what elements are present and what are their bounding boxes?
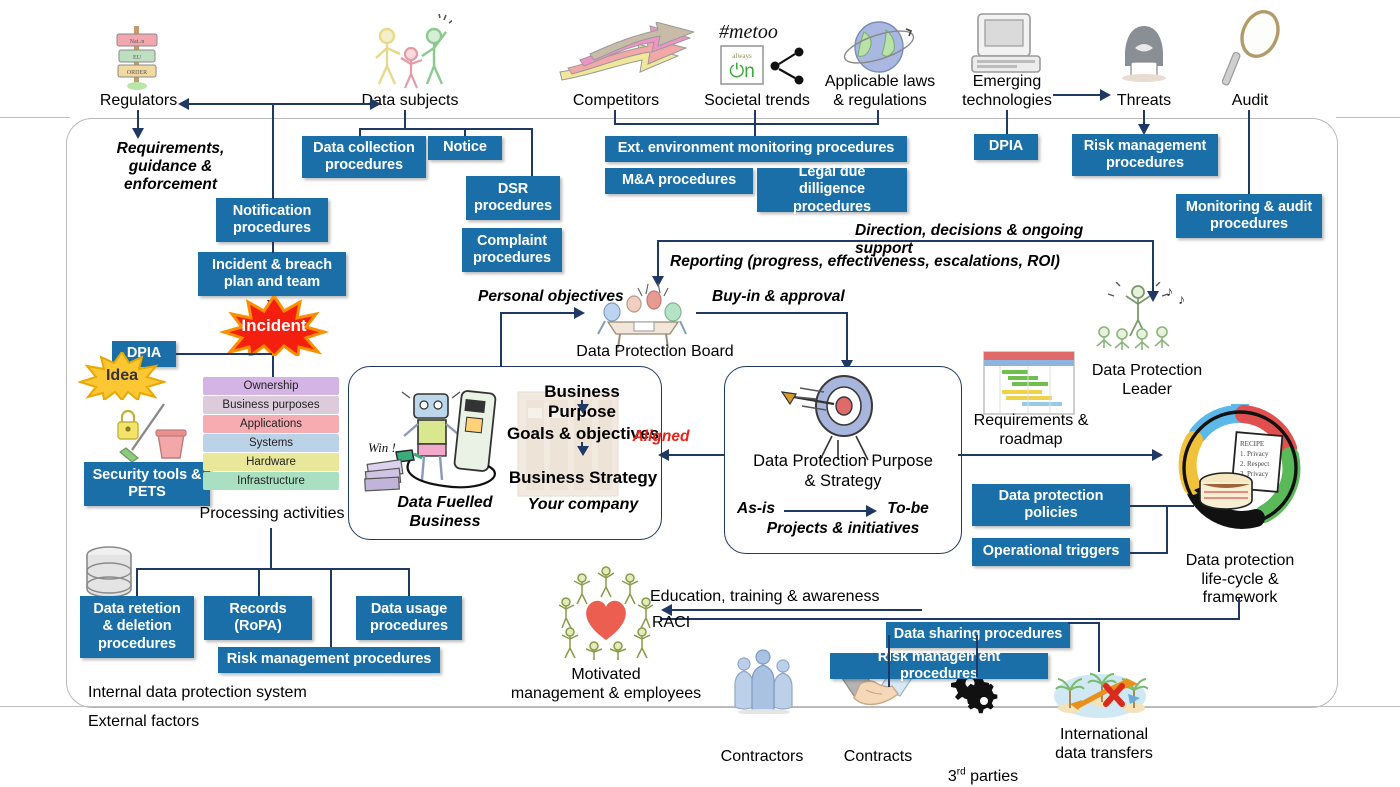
box-incident-breach[interactable]: Incident & breach plan and team <box>198 252 346 296</box>
three-people-icon <box>728 648 800 714</box>
line-societal-down <box>754 110 756 124</box>
line-bottom-branch-3 <box>330 568 332 647</box>
line-competitors-down <box>614 110 616 124</box>
line-emerging-down <box>1006 110 1008 136</box>
box-data-protection-policies[interactable]: Data protection policies <box>972 484 1130 526</box>
line-audit-down <box>1248 110 1250 194</box>
line-reporting-v <box>657 240 659 280</box>
hacker-icon <box>1113 22 1175 84</box>
annotation-requirements-guidance: Requirements, guidance & enforcement <box>78 140 263 194</box>
line-triggers-join <box>1130 552 1168 554</box>
label-data-protection-board: Data Protection Board <box>560 343 750 362</box>
label-internal-system: Internal data protection system <box>88 684 418 703</box>
svg-text:EU: EU <box>133 55 142 61</box>
svg-text:#metoo: #metoo <box>719 21 778 43</box>
line-spine-incident <box>272 242 274 253</box>
lock-broom-bucket-icon <box>108 400 200 462</box>
processing-activity-row[interactable]: Systems <box>203 434 339 452</box>
box-dpia-top[interactable]: DPIA <box>974 134 1038 160</box>
box-notice[interactable]: Notice <box>428 136 502 160</box>
external-label-competitors: Competitors <box>556 92 676 111</box>
annotation-reporting: Reporting (progress, effectiveness, esca… <box>670 253 1070 271</box>
line-dpia-to-spine <box>176 353 272 355</box>
svg-text:2. Respect: 2. Respect <box>1240 460 1269 468</box>
svg-text:Nat..n: Nat..n <box>130 39 145 45</box>
box-data-retention-deletion[interactable]: Data retetion & deletion procedures <box>80 596 194 658</box>
line-emerging-to-threats <box>1053 94 1103 96</box>
line-ext-monitoring-bus <box>614 123 879 125</box>
line-ext-monitoring-drop <box>754 123 756 137</box>
label-as-is: As-is <box>730 500 782 518</box>
lifecycle-circle-icon: RECIPE1. Privacy2. Respect3. Privacy <box>1168 396 1312 540</box>
line-data-subjects-bus <box>359 128 533 130</box>
label-processing-activities: Processing activities <box>190 505 354 524</box>
arrow-emerging-to-threats <box>1100 89 1111 101</box>
label-external-factors: External factors <box>88 713 348 732</box>
label-projects-initiatives: Projects & initiatives <box>736 520 950 538</box>
processing-activity-label: Business purposes <box>222 399 319 411</box>
line-lifecycle-bottom-bus <box>660 618 1240 620</box>
line-datasharing-to-intl <box>1068 622 1100 624</box>
line-spine-notification <box>272 165 274 199</box>
line-as-is-to-be <box>784 510 870 512</box>
arrow-personal-objectives <box>574 307 585 319</box>
external-label-audit: Audit <box>1212 92 1288 111</box>
line-buyin-h <box>696 312 848 314</box>
line-branch-dsr <box>531 128 533 176</box>
arrow-education-left <box>661 604 672 616</box>
people-circle-heart-icon <box>556 562 656 662</box>
annotation-personal-objectives: Personal objectives <box>478 288 638 306</box>
diagram-canvas: Nat..n EU ORDER Regulators Data subjects <box>0 0 1400 787</box>
box-risk-management-parties[interactable]: Risk management procedures <box>830 653 1048 679</box>
annotation-raci: RACI <box>652 614 712 633</box>
line-bottom-branch-4 <box>408 568 410 596</box>
line-vertical-center-top <box>272 103 274 165</box>
box-legal-due-dilligence[interactable]: Legal due dilligence procedures <box>757 168 907 212</box>
svg-text:ORDER: ORDER <box>127 70 147 76</box>
magnifying-glass-icon <box>1216 8 1286 88</box>
signpost-icon: Nat..n EU ORDER <box>106 18 170 90</box>
line-thirdparties-up <box>976 635 978 677</box>
target-arrow-icon <box>772 374 892 462</box>
box-monitoring-audit-procedures[interactable]: Monitoring & audit procedures <box>1176 194 1322 238</box>
box-data-usage-procedures[interactable]: Data usage procedures <box>356 596 462 640</box>
hashtag-metoo-icon: #metoo always ⏻n <box>713 14 813 92</box>
svg-text:♪: ♪ <box>1178 293 1185 308</box>
box-data-collection-procedures[interactable]: Data collection procedures <box>302 136 426 178</box>
line-data-subjects-down <box>404 110 406 129</box>
external-label-third-parties: 3rd parties <box>928 748 1038 786</box>
annotation-buy-in-approval: Buy-in & approval <box>712 288 872 306</box>
external-boundary-right-line <box>1336 117 1400 118</box>
old-computer-icon <box>968 10 1044 78</box>
processing-activity-label: Ownership <box>244 380 299 392</box>
box-operational-triggers[interactable]: Operational triggers <box>972 538 1130 566</box>
line-laws-down <box>877 110 879 124</box>
line-bottom-bus <box>136 568 410 570</box>
label-to-be: To-be <box>878 500 938 518</box>
processing-activity-row[interactable]: Applications <box>203 415 339 433</box>
svg-text:⏻n: ⏻n <box>729 61 755 82</box>
line-direction-h <box>842 240 1154 242</box>
external-label-contractors: Contractors <box>702 748 822 767</box>
line-bottom-branch-1 <box>136 568 138 596</box>
robot-fuel-icon: Win ! <box>362 380 512 496</box>
label-requirements-roadmap: Requirements & roadmap <box>958 412 1104 449</box>
label-data-protection-leader: Data Protection Leader <box>1072 362 1222 399</box>
box-security-tools-pets[interactable]: Security tools & PETS <box>84 462 210 506</box>
third-parties-text: 3rd parties <box>948 768 1018 785</box>
processing-activity-row[interactable]: Infrastructure <box>203 472 339 490</box>
box-complaint-procedures[interactable]: Complaint procedures <box>462 228 562 272</box>
line-regulators-down <box>137 110 139 130</box>
arrow-dpcard-to-lifecycle <box>1152 449 1163 461</box>
line-stack-2 <box>581 442 583 450</box>
label-data-fuelled-business: Data Fuelled Business <box>368 494 522 531</box>
line-policies-v <box>1166 505 1168 552</box>
processing-activity-label: Systems <box>249 437 293 449</box>
line-contracts-up <box>888 635 890 687</box>
box-dsr-procedures[interactable]: DSR procedures <box>466 176 560 220</box>
external-label-emerging-technologies: Emerging technologies <box>932 73 1082 110</box>
line-personal-objectives-h <box>500 312 578 314</box>
database-icon <box>82 545 136 603</box>
idea-star-label: Idea <box>106 367 138 385</box>
incident-star: Incident <box>212 296 336 356</box>
line-reporting-h <box>657 240 842 242</box>
line-intl-up <box>1098 622 1100 672</box>
line-regulators-datasubjects <box>188 103 380 105</box>
svg-text:♪: ♪ <box>1166 285 1173 300</box>
svg-text:always: always <box>732 52 752 60</box>
external-label-intl-data-transfers: International data transfers <box>1034 726 1174 763</box>
box-ma-procedures[interactable]: M&A procedures <box>605 168 753 194</box>
processing-activity-label: Applications <box>240 418 302 430</box>
idea-star: Idea <box>78 352 166 400</box>
arrow-regulators-down <box>132 128 144 139</box>
external-label-contracts: Contracts <box>828 748 928 767</box>
line-lifecycle-down <box>1238 598 1240 620</box>
arrow-aligned-left <box>658 449 669 461</box>
line-aligned <box>666 454 726 456</box>
line-policies-join <box>1130 505 1194 507</box>
roadmap-gantt-icon <box>982 350 1076 420</box>
globe-icon <box>840 16 918 78</box>
box-notification-procedures[interactable]: Notification procedures <box>216 198 328 242</box>
external-boundary-top-line <box>0 117 70 118</box>
processing-activity-label: Infrastructure <box>237 475 305 487</box>
incident-star-label: Incident <box>241 316 306 336</box>
box-records-ropa[interactable]: Records (RoPA) <box>204 596 312 640</box>
box-risk-management-bottom[interactable]: Risk management procedures <box>218 647 440 673</box>
arrow-as-is-to-be <box>866 505 877 517</box>
line-education-arrow <box>672 609 922 611</box>
arrow-to-data-subjects <box>370 98 381 110</box>
box-ext-environment-monitoring[interactable]: Ext. environment monitoring procedures <box>605 136 907 162</box>
svg-text:1. Privacy: 1. Privacy <box>1240 450 1269 458</box>
line-bottom-branch-2 <box>258 568 260 596</box>
annotation-aligned: Aligned <box>626 428 696 446</box>
arrows-race-icon <box>554 22 694 88</box>
processing-activities-table: Ownership Business purposes Applications… <box>203 377 339 491</box>
processing-activity-label: Hardware <box>246 456 296 468</box>
box-risk-management-top[interactable]: Risk management procedures <box>1072 134 1218 176</box>
label-data-protection-purpose: Data Protection Purpose & Strategy <box>730 452 956 492</box>
processing-activity-row[interactable]: Business purposes <box>203 396 339 414</box>
line-dpcard-to-lifecycle <box>958 454 1158 456</box>
data-protection-leader-icon: ♪♪ <box>1090 282 1190 354</box>
annotation-education-training: Education, training & awareness <box>650 588 930 607</box>
svg-text:Win !: Win ! <box>368 440 396 455</box>
processing-activity-row[interactable]: Ownership <box>203 377 339 395</box>
external-label-data-subjects: Data subjects <box>340 92 480 111</box>
line-buyin-v <box>846 312 848 364</box>
arrow-to-regulators <box>178 98 189 110</box>
label-motivated-management: Motivated management & employees <box>506 666 706 703</box>
line-stack-1 <box>581 400 583 408</box>
label-your-company: Your company <box>512 496 654 515</box>
people-celebrating-icon <box>370 14 452 92</box>
line-processing-down <box>270 528 272 570</box>
processing-activity-row[interactable]: Hardware <box>203 453 339 471</box>
label-business-strategy: Business Strategy <box>502 468 664 488</box>
external-boundary-bottom-line <box>0 706 1400 707</box>
svg-text:RECIPE: RECIPE <box>1240 440 1264 448</box>
